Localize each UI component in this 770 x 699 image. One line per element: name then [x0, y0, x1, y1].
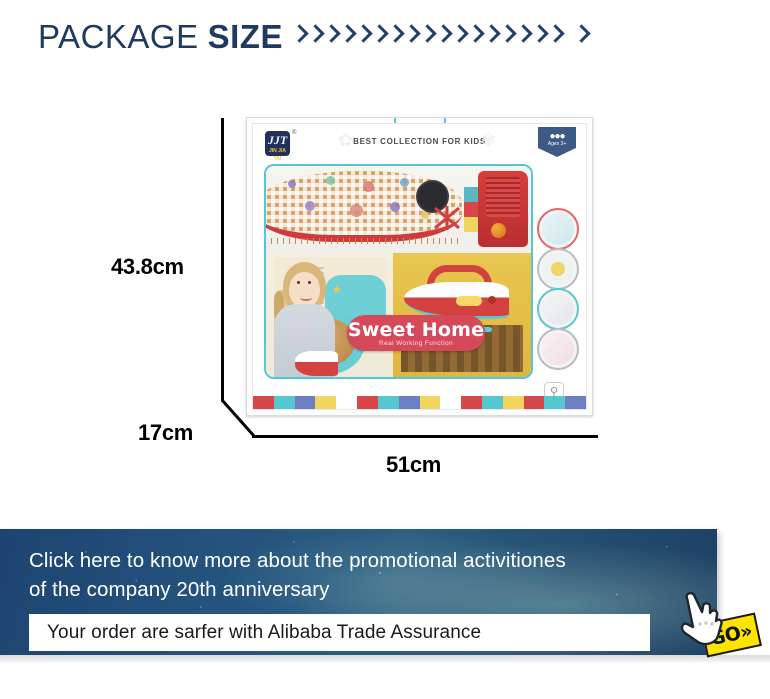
chevron-icon: [548, 23, 562, 47]
promo-line-2: of the company 20th anniversary: [29, 575, 679, 604]
board-ruler-marks: [271, 238, 462, 244]
cloth-dot: [363, 181, 374, 192]
chevron-icon: [574, 23, 588, 47]
product-package-image: JJT JIN JIA TAI ® BEST COLLECTION FOR KI…: [246, 117, 593, 416]
depth-label: 17cm: [138, 420, 193, 446]
page-header: PACKAGESIZE: [0, 0, 770, 72]
chevron-icon: [420, 23, 434, 47]
feature-badge-rail: ⚲ ♺: [533, 164, 583, 379]
feature-badge: [537, 248, 579, 290]
ironing-board-area: [266, 166, 531, 253]
chevron-icon: [468, 23, 482, 47]
feature-badge: [537, 208, 579, 250]
color-block: [482, 396, 503, 409]
chevron-icon: [356, 23, 370, 47]
width-measure-line: [252, 435, 598, 438]
radio-knob-icon: [491, 223, 506, 238]
chevron-icon: [532, 23, 546, 47]
chevron-icon: [436, 23, 450, 47]
color-block: [399, 396, 420, 409]
toy-radio-appliance: [478, 171, 528, 247]
product-title-badge: Sweet Home Real Working Function: [347, 315, 485, 351]
box-display-window: ★: [264, 164, 533, 379]
color-block: [357, 396, 378, 409]
color-block: [524, 396, 545, 409]
model-face: [289, 272, 320, 309]
age-rating-badge: ●●● Ages 3+: [538, 127, 576, 157]
radio-grill: [486, 177, 520, 217]
chevron-icon: [484, 23, 498, 47]
chevron-icon: [388, 23, 402, 47]
page-title-bold: SIZE: [208, 18, 283, 55]
color-block: [565, 396, 586, 409]
chevron-icon: [292, 23, 306, 47]
chevron-icon: [372, 23, 386, 47]
color-block: [274, 396, 295, 409]
iron-brand-label: [456, 296, 482, 306]
feature-badge: [537, 288, 579, 330]
color-block: [440, 396, 461, 409]
color-block: [253, 396, 274, 409]
cloth-dot: [400, 178, 409, 187]
model-eye: [297, 281, 300, 284]
color-block: [461, 396, 482, 409]
color-block: [544, 396, 565, 409]
registered-trademark-icon: ®: [292, 130, 296, 136]
model-eye: [308, 281, 311, 284]
iron-indicator-icon: [488, 296, 496, 304]
cloth-dot: [390, 202, 400, 212]
banner-bottom-shadow: [0, 655, 770, 662]
promotional-banner[interactable]: Click here to know more about the promot…: [0, 529, 717, 655]
chevron-icon: [500, 23, 514, 47]
color-block: [295, 396, 316, 409]
height-label: 43.8cm: [111, 254, 184, 280]
product-title: Sweet Home: [347, 315, 485, 341]
trade-assurance-field[interactable]: Your order are sarfer with Alibaba Trade…: [29, 614, 650, 651]
model-held-iron: [295, 351, 338, 375]
color-block: [420, 396, 441, 409]
cloth-dot: [350, 204, 363, 217]
box-inner-frame: JJT JIN JIA TAI ® BEST COLLECTION FOR KI…: [252, 123, 587, 410]
chevron-icon: [324, 23, 338, 47]
chevron-icon: [308, 23, 322, 47]
chevron-icon: [516, 23, 530, 47]
pointing-hand-icon: [669, 588, 731, 650]
color-block: [336, 396, 357, 409]
brand-name: JIN JIA TAI: [269, 148, 286, 162]
cloth-dot: [326, 176, 335, 185]
chevron-icon: [340, 23, 354, 47]
product-subtitle: Real Working Function: [347, 340, 485, 347]
package-size-diagram: 43.8cm 17cm 51cm JJT JIN JIA TAI ® BEST …: [0, 72, 770, 502]
iron-body: [404, 282, 509, 319]
box-header-strip: JJT JIN JIA TAI ® BEST COLLECTION FOR KI…: [253, 124, 586, 162]
color-block: [315, 396, 336, 409]
color-block: [503, 396, 524, 409]
bottom-color-strip: [253, 396, 586, 409]
model-smile: [300, 295, 312, 301]
box-tagline: BEST COLLECTION FOR KIDS: [253, 137, 586, 146]
promo-line-1: Click here to know more about the promot…: [29, 546, 679, 575]
chevron-icon: [452, 23, 466, 47]
page-title-light: PACKAGE: [38, 18, 199, 55]
color-block: [378, 396, 399, 409]
cloth-dot: [288, 180, 296, 188]
width-label: 51cm: [386, 452, 441, 478]
page-title: PACKAGESIZE: [38, 18, 283, 56]
red-decoration-icon: [432, 205, 462, 231]
feature-badge: [537, 328, 579, 370]
cloth-dot: [305, 201, 315, 211]
chevron-decoration: [292, 23, 588, 47]
height-measure-line: [221, 118, 224, 401]
age-text: Ages 3+: [538, 141, 576, 147]
trade-assurance-text: Your order are sarfer with Alibaba Trade…: [29, 622, 481, 644]
chevron-icon: [404, 23, 418, 47]
child-model-photo: [266, 255, 343, 377]
promo-message: Click here to know more about the promot…: [29, 546, 679, 604]
